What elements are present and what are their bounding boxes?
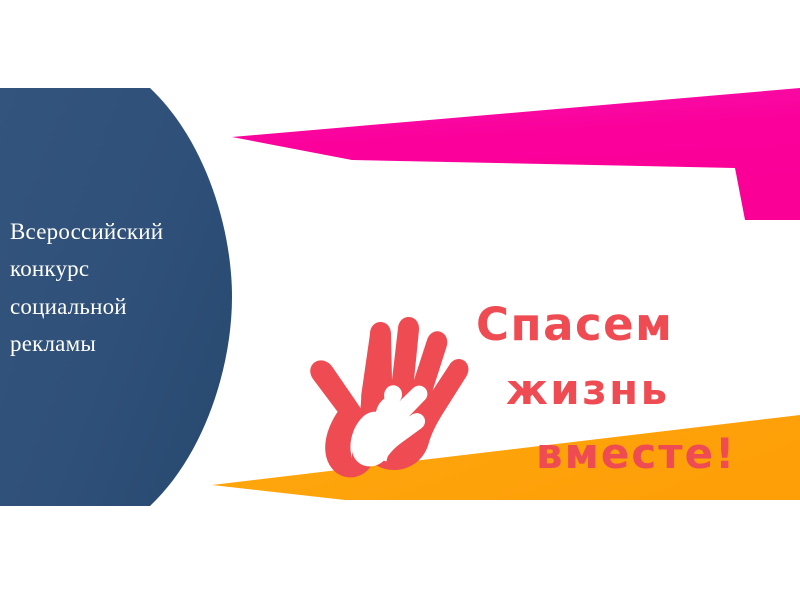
slogan-block: Спасем жизнь вместе! <box>470 302 736 475</box>
slogan-line-2: жизнь <box>506 369 736 411</box>
artwork-band: Всероссийский конкурс социальной рекламы <box>0 88 800 506</box>
slogan-line-3: вместе! <box>536 433 736 475</box>
helping-hands-svg <box>296 300 486 486</box>
helping-hands-icon <box>296 300 486 486</box>
poster-canvas: Всероссийский конкурс социальной рекламы <box>0 0 800 600</box>
slogan-line-1: Спасем <box>476 302 736 347</box>
